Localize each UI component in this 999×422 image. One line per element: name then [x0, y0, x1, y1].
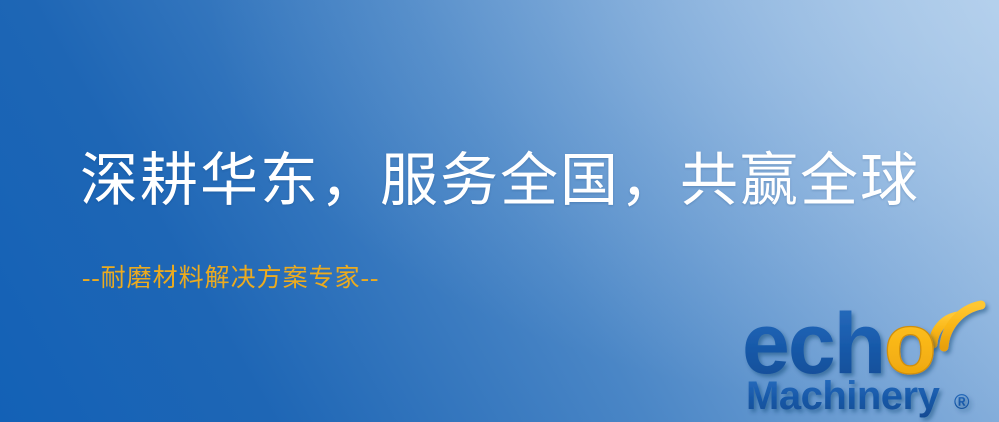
echo-arc-outer	[944, 305, 981, 347]
page-subtitle: --耐磨材料解决方案专家--	[82, 266, 379, 291]
echo-machinery-logo[interactable]: ech o Machinery ®	[742, 292, 994, 420]
page-title: 深耕华东，服务全国，共赢全球	[80, 152, 920, 210]
company-hero-banner: 深耕华东，服务全国，共赢全球 --耐磨材料解决方案专家--	[0, 0, 999, 422]
logo-word-machinery: Machinery	[746, 374, 941, 418]
echo-signal-arcs	[933, 305, 981, 347]
logo-trademark-symbol: ®	[954, 391, 970, 414]
